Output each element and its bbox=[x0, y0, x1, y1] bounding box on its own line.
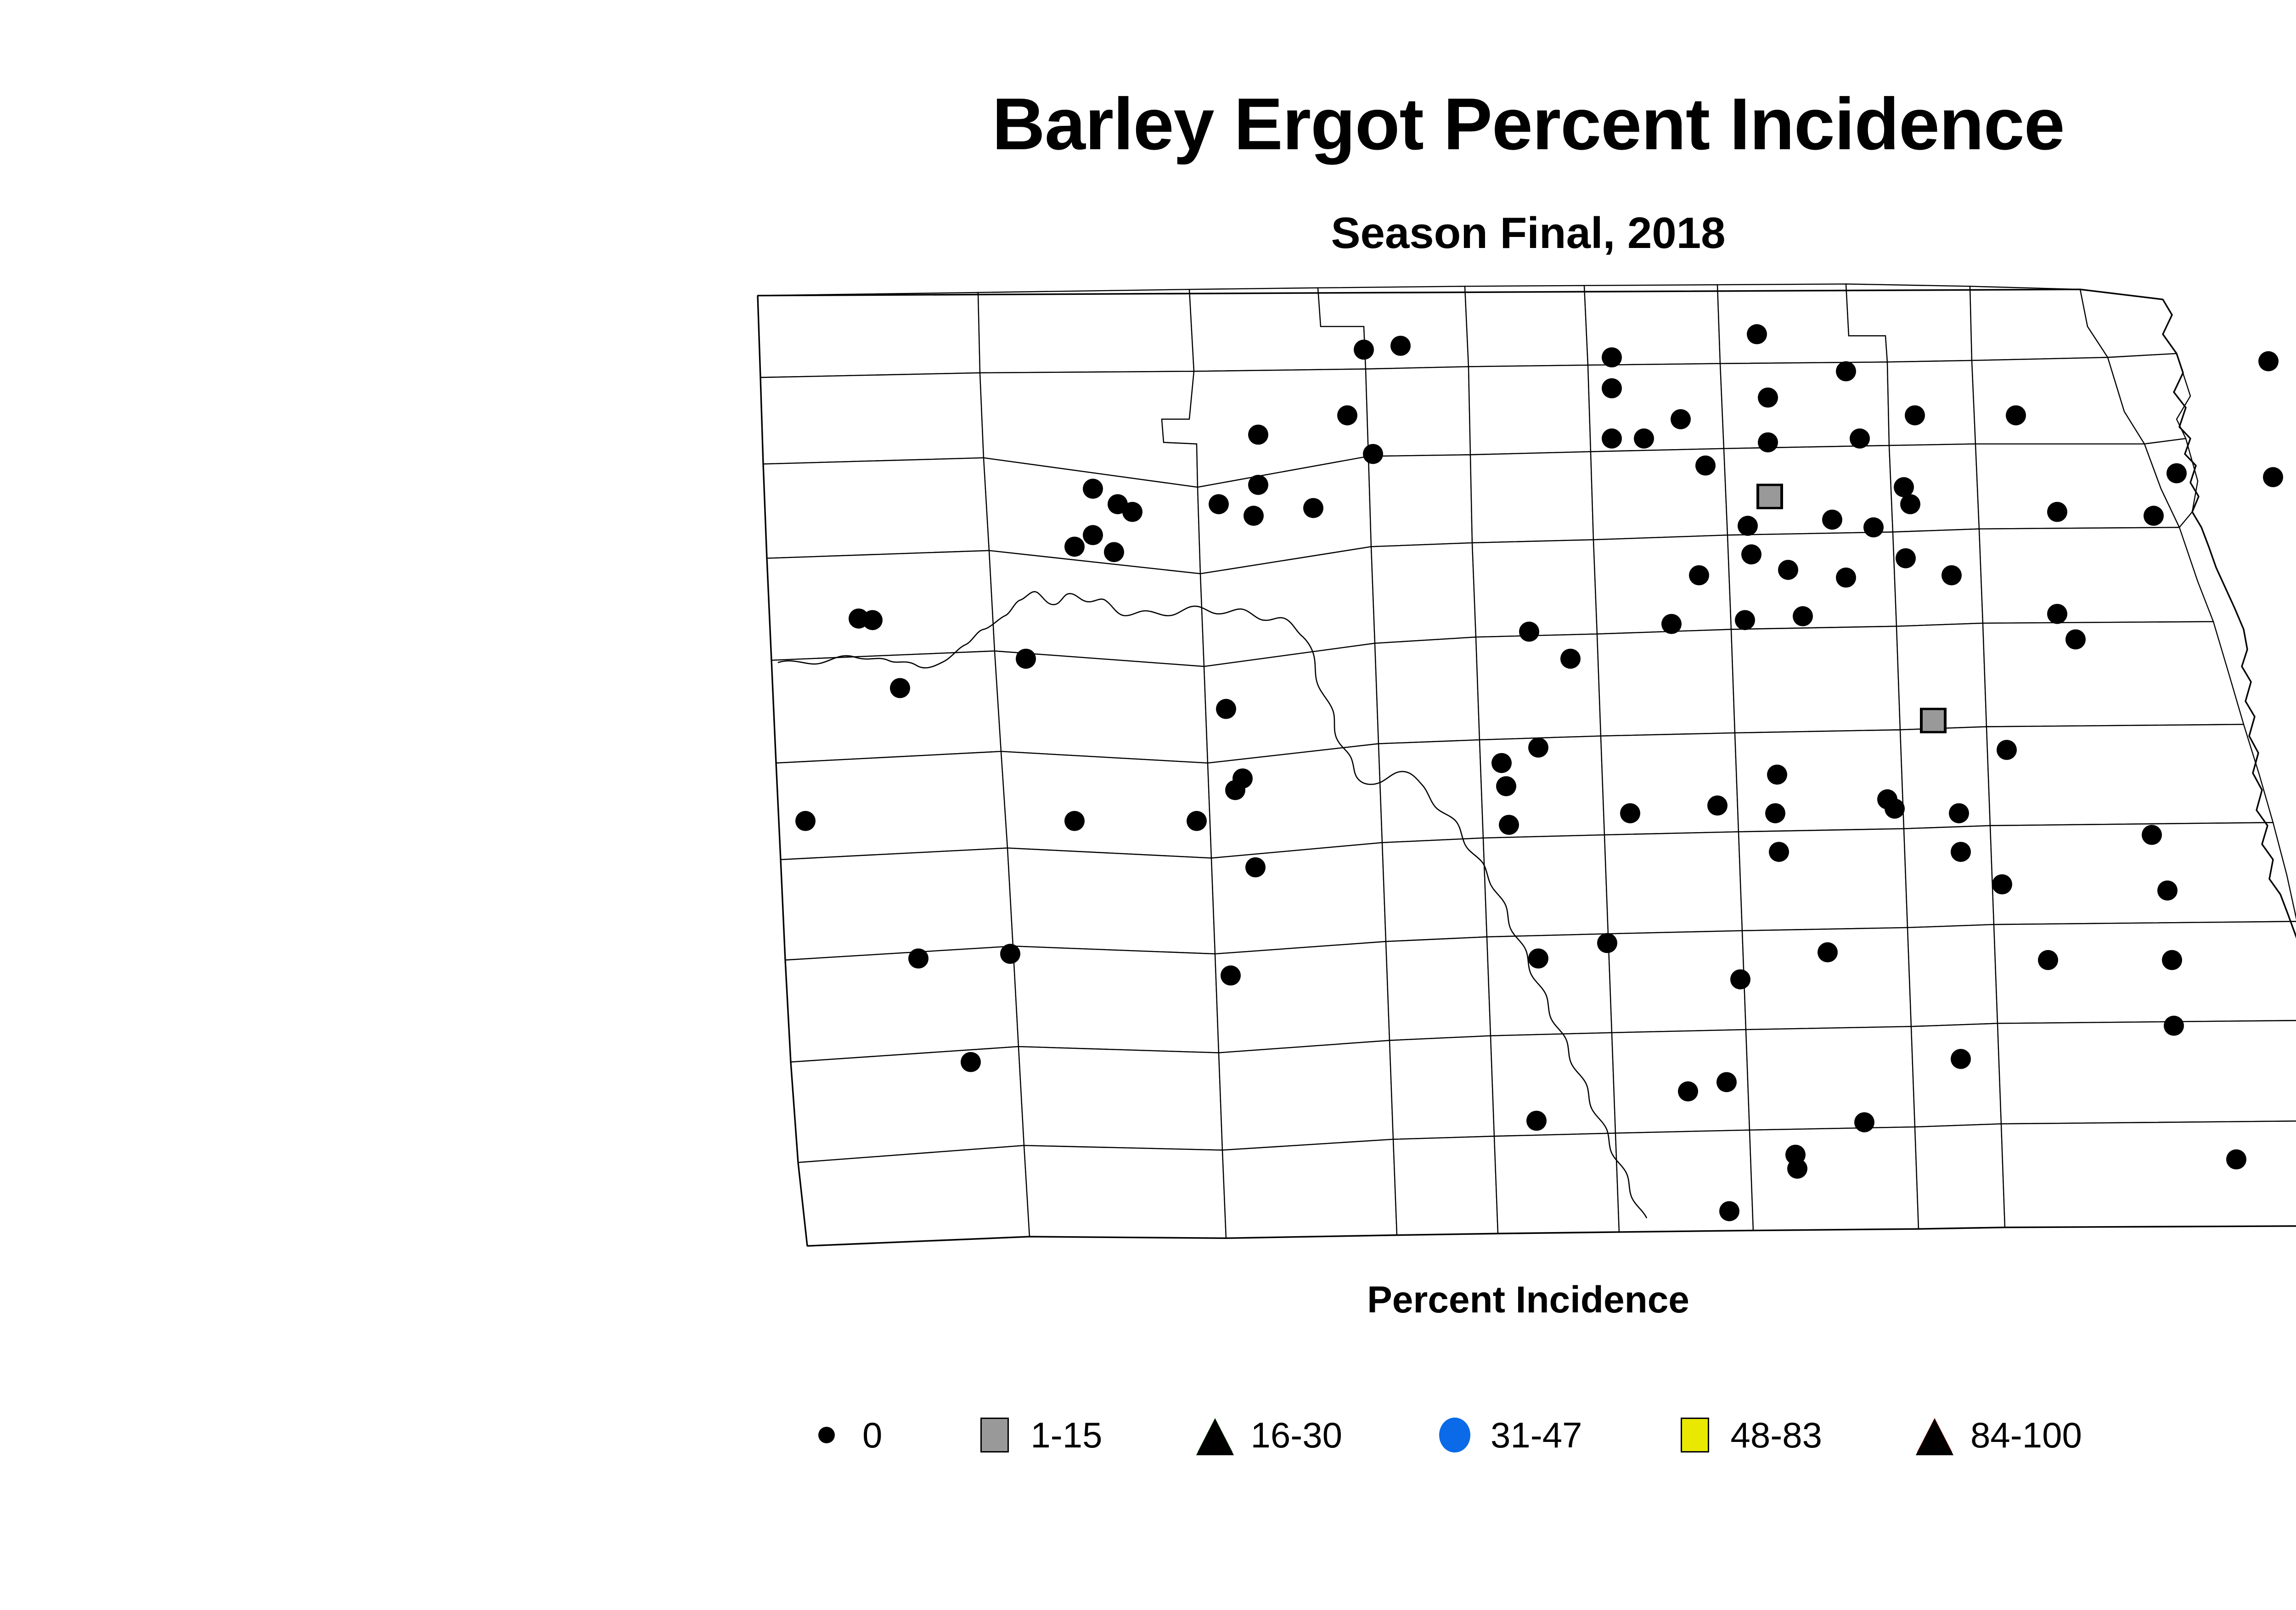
map-point-dot[interactable] bbox=[1905, 405, 1925, 426]
map-point-dot[interactable] bbox=[1747, 324, 1767, 344]
map-point-dot[interactable] bbox=[1221, 965, 1241, 985]
map-point-dot[interactable] bbox=[1303, 498, 1323, 518]
map-point-dot[interactable] bbox=[1707, 795, 1728, 816]
map-point-dot[interactable] bbox=[2226, 1149, 2246, 1170]
map-point-dot[interactable] bbox=[1232, 768, 1253, 788]
map-point-dot[interactable] bbox=[1337, 405, 1357, 426]
map-point-dot[interactable] bbox=[1244, 506, 1264, 526]
map-point-dot[interactable] bbox=[1528, 948, 1548, 968]
map-point-dot[interactable] bbox=[1104, 542, 1124, 562]
legend-item-label: 48-83 bbox=[1731, 1417, 1823, 1453]
legend-item-label: 31-47 bbox=[1491, 1417, 1582, 1453]
map-point-dot[interactable] bbox=[1496, 776, 1516, 796]
map-point-dot[interactable] bbox=[1064, 537, 1085, 557]
map-point-dot[interactable] bbox=[1854, 1112, 1874, 1132]
map-point-dot[interactable] bbox=[1949, 803, 1969, 823]
map-point-dot[interactable] bbox=[2038, 950, 2058, 970]
map-point-dot[interactable] bbox=[1560, 649, 1581, 669]
map-point-dot[interactable] bbox=[1758, 432, 1778, 452]
map-point-dot[interactable] bbox=[1787, 1159, 1807, 1179]
map-point-dot[interactable] bbox=[961, 1052, 981, 1072]
map-point-dot[interactable] bbox=[2258, 351, 2279, 372]
yellow-square-icon bbox=[1667, 1407, 1722, 1463]
map-point-dot[interactable] bbox=[1187, 811, 1207, 831]
green-triangle-icon bbox=[1187, 1407, 1243, 1463]
map-point-dot[interactable] bbox=[908, 948, 929, 968]
map-point-dot[interactable] bbox=[1992, 874, 2012, 895]
page-title: Barley Ergot Percent Incidence bbox=[0, 87, 2296, 161]
map-point-dot[interactable] bbox=[1741, 544, 1761, 564]
map-point-dot[interactable] bbox=[2167, 463, 2187, 484]
map-point-dot[interactable] bbox=[2164, 1016, 2184, 1036]
map-point-dot[interactable] bbox=[1769, 842, 1789, 862]
map-point-square[interactable] bbox=[1921, 709, 1945, 732]
map-point-dot[interactable] bbox=[1793, 606, 1813, 626]
map-point-dot[interactable] bbox=[1735, 610, 1755, 630]
map-point-dot[interactable] bbox=[1216, 699, 1236, 719]
map-point-dot[interactable] bbox=[1245, 857, 1266, 878]
map-point-dot[interactable] bbox=[2047, 502, 2067, 522]
map-point-dot[interactable] bbox=[1738, 516, 1758, 536]
legend: 01-1516-3031-4748-8384-100 bbox=[799, 1396, 2259, 1474]
map-point-dot[interactable] bbox=[1122, 502, 1142, 522]
map-point-dot[interactable] bbox=[1248, 425, 1268, 445]
page-subtitle: Season Final, 2018 bbox=[0, 211, 2296, 255]
map-point-dot[interactable] bbox=[2162, 950, 2182, 970]
map-point-dot[interactable] bbox=[2157, 880, 2178, 901]
legend-item[interactable]: 48-83 bbox=[1667, 1396, 1823, 1474]
map-svg[interactable] bbox=[730, 280, 2296, 1254]
legend-item-label: 1-15 bbox=[1030, 1417, 1102, 1453]
map-point-dot[interactable] bbox=[1528, 737, 1548, 758]
map-point-dot[interactable] bbox=[2142, 825, 2162, 845]
map-point-dot[interactable] bbox=[1767, 765, 1787, 785]
map-point-dot[interactable] bbox=[862, 610, 883, 630]
map-point-dot[interactable] bbox=[1597, 933, 1617, 953]
legend-item[interactable]: 1-15 bbox=[967, 1396, 1102, 1474]
map-point-dot[interactable] bbox=[1951, 842, 1971, 862]
map-point-dot[interactable] bbox=[1499, 815, 1519, 835]
map-point-dot[interactable] bbox=[1248, 475, 1268, 495]
map-point-dot[interactable] bbox=[1620, 803, 1640, 823]
map-point-dot[interactable] bbox=[1951, 1049, 1971, 1069]
map-point-dot[interactable] bbox=[1602, 378, 1622, 399]
map-point-dot[interactable] bbox=[1896, 548, 1916, 569]
map-point-dot[interactable] bbox=[1836, 568, 1856, 588]
map-point-dot[interactable] bbox=[1836, 361, 1856, 382]
map-point-dot[interactable] bbox=[1695, 456, 1716, 476]
map-point-dot[interactable] bbox=[2047, 604, 2067, 624]
red-triangle-icon bbox=[1907, 1407, 1962, 1463]
map-point-dot[interactable] bbox=[2144, 506, 2164, 526]
map-point-dot[interactable] bbox=[1719, 1201, 1739, 1222]
legend-item[interactable]: 31-47 bbox=[1427, 1396, 1582, 1474]
map-point-dot[interactable] bbox=[1602, 347, 1622, 367]
map-point-dot[interactable] bbox=[1778, 560, 1798, 580]
map-point-dot[interactable] bbox=[2006, 405, 2026, 426]
map-point-dot[interactable] bbox=[1661, 614, 1682, 634]
map-point-dot[interactable] bbox=[1390, 336, 1411, 356]
map-point-dot[interactable] bbox=[1083, 525, 1103, 545]
legend-item[interactable]: 84-100 bbox=[1907, 1396, 2082, 1474]
map-point-dot[interactable] bbox=[1519, 622, 1539, 642]
map-point-dot[interactable] bbox=[890, 678, 910, 698]
figure-canvas: Barley Ergot Percent Incidence Season Fi… bbox=[0, 0, 2296, 1610]
map-point-dot[interactable] bbox=[1850, 428, 1870, 449]
map-point-dot[interactable] bbox=[1863, 518, 1884, 538]
gray-square-icon bbox=[967, 1407, 1022, 1463]
map-point-dot[interactable] bbox=[1900, 494, 1920, 514]
map-point-dot[interactable] bbox=[1526, 1111, 1547, 1131]
map-point-square[interactable] bbox=[1758, 485, 1782, 508]
legend-item[interactable]: 16-30 bbox=[1187, 1396, 1343, 1474]
map-point-dot[interactable] bbox=[1941, 565, 1962, 585]
legend-item[interactable]: 0 bbox=[799, 1396, 882, 1474]
north-dakota-map[interactable] bbox=[730, 280, 2296, 1254]
map-point-dot[interactable] bbox=[1064, 811, 1085, 831]
blue-circle-icon bbox=[1427, 1407, 1482, 1463]
map-point-dot[interactable] bbox=[1678, 1081, 1698, 1102]
map-point-dot[interactable] bbox=[1765, 803, 1785, 823]
map-point-dot[interactable] bbox=[1716, 1072, 1737, 1092]
map-point-dot[interactable] bbox=[1758, 388, 1778, 408]
map-point-dot[interactable] bbox=[1634, 428, 1654, 449]
map-point-dot[interactable] bbox=[1818, 942, 1838, 963]
map-point-dot[interactable] bbox=[795, 811, 816, 831]
map-point-dot[interactable] bbox=[1000, 944, 1020, 964]
map-point-dot[interactable] bbox=[1602, 428, 1622, 449]
map-point-dot[interactable] bbox=[1363, 444, 1383, 464]
map-point-dot[interactable] bbox=[1822, 510, 1842, 530]
black-dot-icon bbox=[799, 1407, 854, 1463]
map-point-dot[interactable] bbox=[1016, 649, 1036, 669]
map-point-dot[interactable] bbox=[1491, 753, 1512, 773]
map-point-dot[interactable] bbox=[1671, 409, 1691, 429]
map-point-dot[interactable] bbox=[2263, 467, 2283, 487]
map-point-dot[interactable] bbox=[2065, 630, 2086, 650]
map-point-dot[interactable] bbox=[1997, 740, 2017, 760]
map-point-dot[interactable] bbox=[1689, 565, 1709, 585]
legend-item-label: 0 bbox=[862, 1417, 882, 1453]
legend-item-label: 16-30 bbox=[1251, 1417, 1343, 1453]
map-point-dot[interactable] bbox=[1885, 799, 1905, 819]
map-point-dot[interactable] bbox=[1354, 340, 1374, 360]
legend-title: Percent Incidence bbox=[0, 1281, 2296, 1319]
map-point-dot[interactable] bbox=[1209, 494, 1229, 514]
map-point-dot[interactable] bbox=[1730, 969, 1750, 990]
county-layer bbox=[758, 284, 2296, 1246]
map-point-dot[interactable] bbox=[1083, 478, 1103, 499]
legend-item-label: 84-100 bbox=[1970, 1417, 2082, 1453]
